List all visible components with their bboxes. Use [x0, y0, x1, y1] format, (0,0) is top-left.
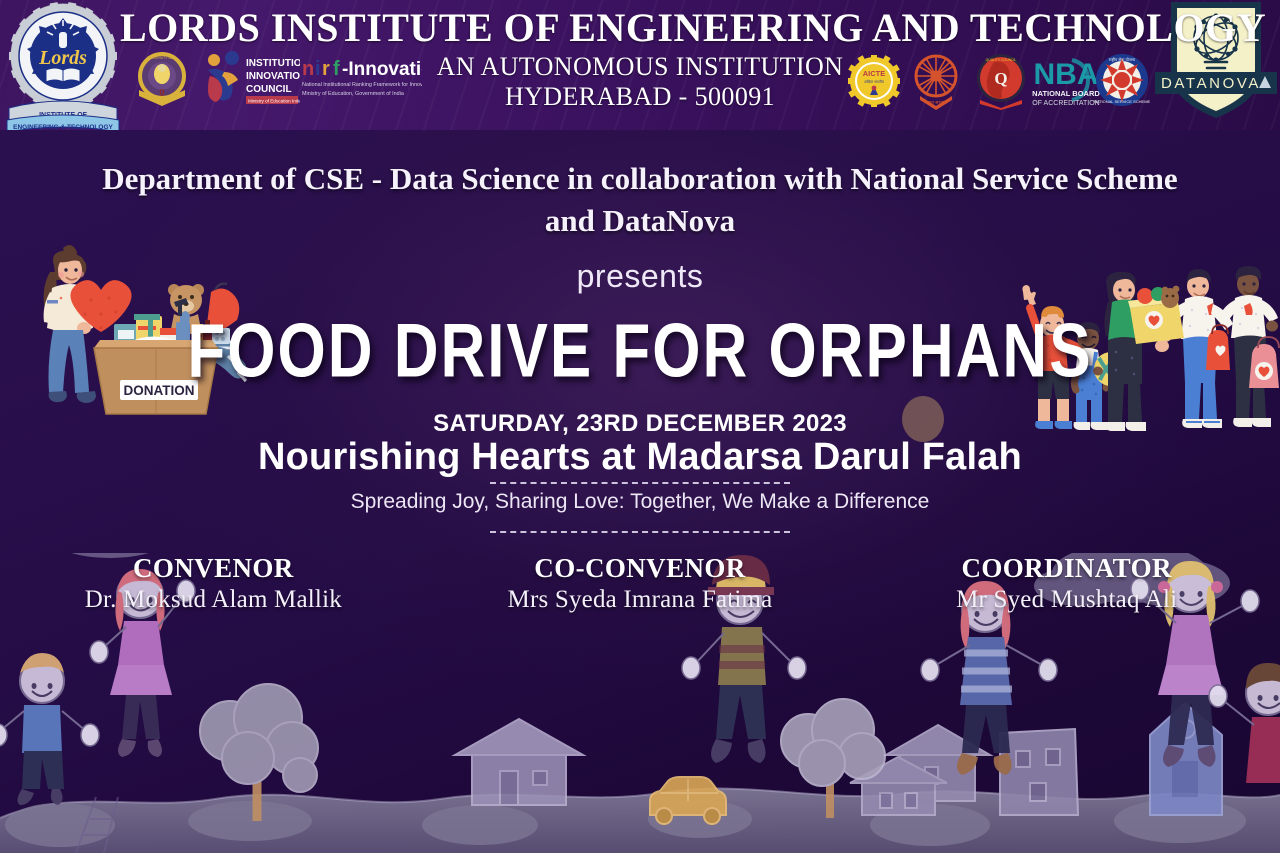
svg-text:Lords: Lords [38, 47, 87, 69]
svg-text:0: 0 [159, 87, 165, 99]
ashoka-chakra-ministry-logo: भारत सरकार [910, 52, 962, 110]
india-quality-emblem-logo: Q QUALITY COUNCIL [974, 52, 1028, 110]
city-pincode-label: HYDERABAD - 500091 [430, 82, 850, 112]
svg-text:National Institutional Ranking: National Institutional Ranking Framework… [302, 82, 422, 88]
event-tagline: Spreading Joy, Sharing Love: Together, W… [0, 490, 1280, 514]
svg-text:राष्ट्रीय सेवा योजना: राष्ट्रीय सेवा योजना [1109, 57, 1136, 62]
svg-text:UNIVERSITY SEAL: UNIVERSITY SEAL [147, 56, 177, 60]
institute-name: LORDS INSTITUTE OF ENGINEERING AND TECHN… [120, 4, 1165, 51]
institution-header: Lords INSTITUTE OF ENGINEERING & TECHNOL… [0, 0, 1280, 130]
institutions-innovation-council-logo: INSTITUTION'S INNOVATION COUNCIL Ministr… [200, 50, 300, 108]
event-date: SATURDAY, 23RD DECEMBER 2023 [0, 410, 1280, 438]
svg-text:i: i [315, 58, 321, 80]
autonomous-institution-label: AN AUTONOMOUS INSTITUTION [430, 52, 850, 82]
svg-text:DATANOVA: DATANOVA [1161, 75, 1261, 92]
svg-text:-Innovation: -Innovation [342, 59, 422, 80]
divider-bottom [490, 531, 790, 533]
credit-convenor: CONVENOR Dr. Moksud Alam Mallik [0, 552, 427, 616]
organizers-row: CONVENOR Dr. Moksud Alam Mallik CO-CONVE… [0, 552, 1280, 616]
svg-text:COUNCIL: COUNCIL [246, 84, 292, 95]
svg-text:f: f [333, 58, 340, 80]
svg-text:INNOVATION: INNOVATION [246, 71, 300, 82]
svg-text:Q: Q [994, 69, 1007, 88]
event-title: FOOD DRIVE FOR ORPHANS [0, 308, 1280, 395]
university-seal-logo: 0 UNIVERSITY SEAL [133, 48, 191, 110]
presents-label: presents [0, 258, 1280, 295]
lords-institute-crest-logo: Lords INSTITUTE OF ENGINEERING & TECHNOL… [4, 0, 122, 130]
svg-text:NATIONAL BOARD: NATIONAL BOARD [1032, 89, 1100, 98]
coordinator-role-label: COORDINATOR [853, 552, 1280, 584]
svg-text:INSTITUTION'S: INSTITUTION'S [246, 58, 300, 69]
svg-text:Ministry of Education Initiati: Ministry of Education Initiative [248, 99, 300, 104]
nba-accreditation-logo: NBA NATIONAL BOARD OF ACCREDITATION [1032, 52, 1100, 110]
svg-text:QUALITY COUNCIL: QUALITY COUNCIL [986, 58, 1017, 62]
coordinator-name: Mr Syed Mushtaq Ali [853, 584, 1280, 616]
svg-text:भारत सरकार: भारत सरकार [925, 100, 947, 105]
svg-text:NATIONAL SERVICE SCHEME: NATIONAL SERVICE SCHEME [1094, 99, 1150, 104]
credit-co-convenor: CO-CONVENOR Mrs Syeda Imrana Fatima [427, 552, 854, 616]
svg-text:Ministry of Education, Governm: Ministry of Education, Government of Ind… [302, 91, 404, 97]
national-service-scheme-logo: राष्ट्रीय सेवा योजना NATIONAL SERVICE SC… [1094, 52, 1150, 108]
svg-text:ENGINEERING & TECHNOLOGY: ENGINEERING & TECHNOLOGY [13, 124, 113, 130]
svg-text:OF ACCREDITATION: OF ACCREDITATION [1032, 100, 1099, 107]
co-convenor-role-label: CO-CONVENOR [427, 552, 854, 584]
svg-text:AICTE: AICTE [863, 69, 886, 78]
department-collaboration-line: Department of CSE - Data Science in coll… [90, 158, 1190, 242]
credit-coordinator: COORDINATOR Mr Syed Mushtaq Ali [853, 552, 1280, 616]
svg-text:r: r [322, 58, 330, 80]
event-venue: Nourishing Hearts at Madarsa Darul Falah [0, 436, 1280, 479]
co-convenor-name: Mrs Syeda Imrana Fatima [427, 584, 854, 616]
nirf-innovation-logo: n i r f -Innovation National Institution… [300, 56, 422, 100]
divider-top [490, 482, 790, 484]
aicte-logo: AICTE अखिल भारतीय [848, 55, 900, 107]
event-poster: DONATION [0, 0, 1280, 853]
convenor-name: Dr. Moksud Alam Mallik [0, 584, 427, 616]
svg-text:अखिल भारतीय: अखिल भारतीय [864, 79, 885, 84]
svg-text:n: n [302, 58, 314, 80]
convenor-role-label: CONVENOR [0, 552, 427, 584]
